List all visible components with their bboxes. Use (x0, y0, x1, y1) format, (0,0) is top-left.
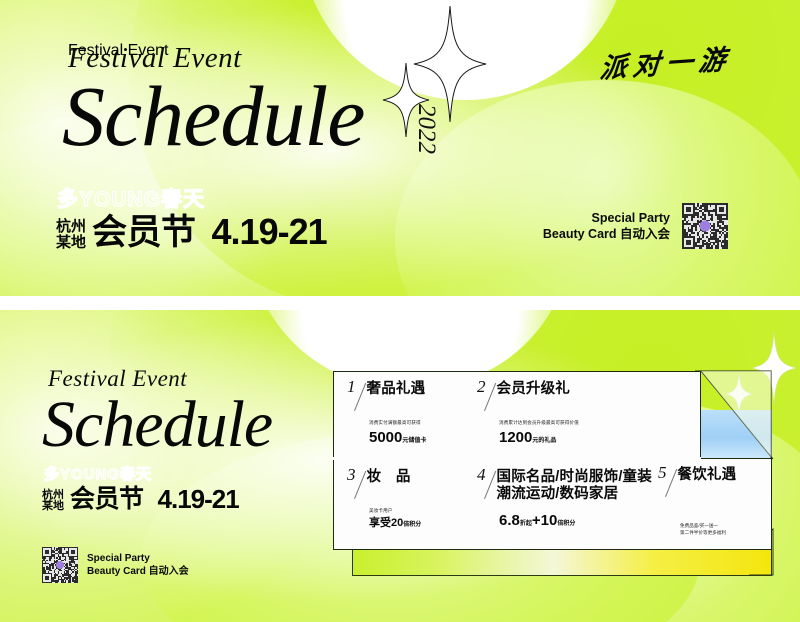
offer-item-5-note-line2: 第二件半价等更多福利 (680, 529, 768, 536)
offer-item-3-unit: 倍积分 (403, 522, 421, 528)
offer-item-3-sub: 美妆卡用户 (369, 508, 467, 515)
offer-item-4-unit: 折起 (520, 521, 532, 527)
offer-item-5[interactable]: 5 餐饮礼遇 免费品鉴/买一送一 第二件半价等更多福利 (658, 467, 768, 537)
bottom-city: 杭州 某地 (42, 490, 64, 512)
top-city: 杭州 某地 (56, 219, 86, 250)
offer-item-5-note-line1: 免费品鉴/买一送一 (680, 522, 768, 529)
top-city-line2: 某地 (56, 235, 86, 250)
bottom-date-row: 杭州 某地 会员节 4.19-21 (42, 486, 239, 512)
offer-item-2-value: 1200元的礼品 (499, 430, 687, 445)
top-date: 4.19-21 (212, 214, 327, 250)
bottom-city-line2: 某地 (42, 501, 64, 512)
offer-item-1[interactable]: 1 奢品礼遇 消费实付满额最高可获得 5000元储值卡 (347, 381, 467, 445)
top-qr-caption: Special Party Beauty Card 自动入会 (525, 210, 670, 243)
offer-item-1-value: 5000元储值卡 (369, 430, 467, 445)
offer-item-1-number: 1 (347, 378, 356, 395)
bottom-event-name: 会员节 (70, 487, 144, 512)
offer-item-3-title: 妆 品 (367, 469, 411, 486)
offer-item-3-amount: 享受20 (369, 517, 403, 529)
offer-item-1-title: 奢品礼遇 (367, 381, 426, 398)
offer-card-accent-bar (352, 548, 772, 576)
offer-item-2[interactable]: 2 会员升级礼 消费累计达到会员升级最高可获得价值 1200元的礼品 (477, 381, 687, 445)
offer-item-4-amount: 6.8 (499, 512, 520, 529)
offer-item-4-title: 国际名品/时尚服饰/童装 潮流运动/数码家居 (497, 469, 652, 502)
offer-item-4-unit2: 倍积分 (557, 521, 575, 527)
offer-item-2-unit: 元的礼品 (532, 438, 556, 444)
poster-canvas: Festival Event Festival Event Schedule 2… (0, 0, 800, 622)
offer-item-1-head: 1 奢品礼遇 (347, 381, 467, 411)
offer-item-2-amount: 1200 (499, 429, 532, 446)
offer-item-2-title: 会员升级礼 (497, 381, 571, 398)
offer-item-3-head: 3 妆 品 (347, 469, 467, 499)
bottom-qr-caption: Special Party Beauty Card 自动入会 (87, 552, 189, 578)
bottom-date: 4.19-21 (158, 486, 239, 512)
qr-center-dot (56, 561, 64, 569)
qr-code-icon[interactable] (682, 203, 728, 249)
offer-item-5-title: 餐饮礼遇 (678, 467, 737, 484)
bottom-qr-line1: Special Party (87, 552, 189, 565)
bottom-qr-line2: Beauty Card 自动入会 (87, 565, 189, 578)
offer-item-5-head: 5 餐饮礼遇 (658, 467, 768, 497)
offer-card-seam (333, 457, 701, 460)
offer-item-2-sub: 消费累计达到会员升级最高可获得价值 (499, 420, 687, 427)
offer-item-1-unit: 元储值卡 (402, 438, 426, 444)
qr-code-icon[interactable] (42, 547, 78, 583)
bottom-title: Schedule (42, 395, 272, 454)
offer-item-4-title-line1: 国际名品/时尚服饰/童装 (497, 469, 652, 486)
offer-item-1-sub: 消费实付满额最高可获得 (369, 420, 467, 427)
offer-item-4-amount2: +10 (532, 512, 557, 529)
top-title: Schedule (62, 78, 364, 155)
offer-item-3-value: 享受20倍积分 (369, 518, 467, 529)
top-city-line1: 杭州 (56, 219, 86, 234)
top-date-row: 杭州 某地 会员节 4.19-21 (56, 214, 327, 250)
top-banner: Festival Event Festival Event Schedule 2… (0, 0, 800, 296)
top-qr-line1: Special Party (525, 210, 670, 227)
offer-card: 1 奢品礼遇 消费实付满额最高可获得 5000元储值卡 2 会员升级礼 消费累计… (325, 363, 795, 578)
bottom-slogan: 多YOUNG春天 (44, 463, 152, 484)
bottom-qr-block[interactable]: Special Party Beauty Card 自动入会 (42, 547, 189, 583)
offer-item-4-title-line2: 潮流运动/数码家居 (497, 486, 652, 503)
top-event-name: 会员节 (92, 215, 196, 250)
top-qr-line2: Beauty Card 自动入会 (525, 226, 670, 243)
offer-item-5-number: 5 (658, 464, 667, 481)
offer-item-2-number: 2 (477, 378, 486, 395)
qr-center-dot (700, 221, 711, 232)
offer-item-4-number: 4 (477, 466, 486, 483)
top-slogan: 多YOUNG春天 (57, 183, 205, 213)
offer-item-1-amount: 5000 (369, 429, 402, 446)
offer-card-fold (695, 369, 775, 463)
top-year: 2022 (412, 104, 440, 154)
top-qr-block[interactable]: Special Party Beauty Card 自动入会 (525, 203, 728, 249)
offer-item-3[interactable]: 3 妆 品 美妆卡用户 享受20倍积分 (347, 469, 467, 529)
offer-item-2-head: 2 会员升级礼 (477, 381, 687, 411)
offer-item-5-note: 免费品鉴/买一送一 第二件半价等更多福利 (680, 522, 768, 537)
offer-item-3-number: 3 (347, 466, 356, 483)
